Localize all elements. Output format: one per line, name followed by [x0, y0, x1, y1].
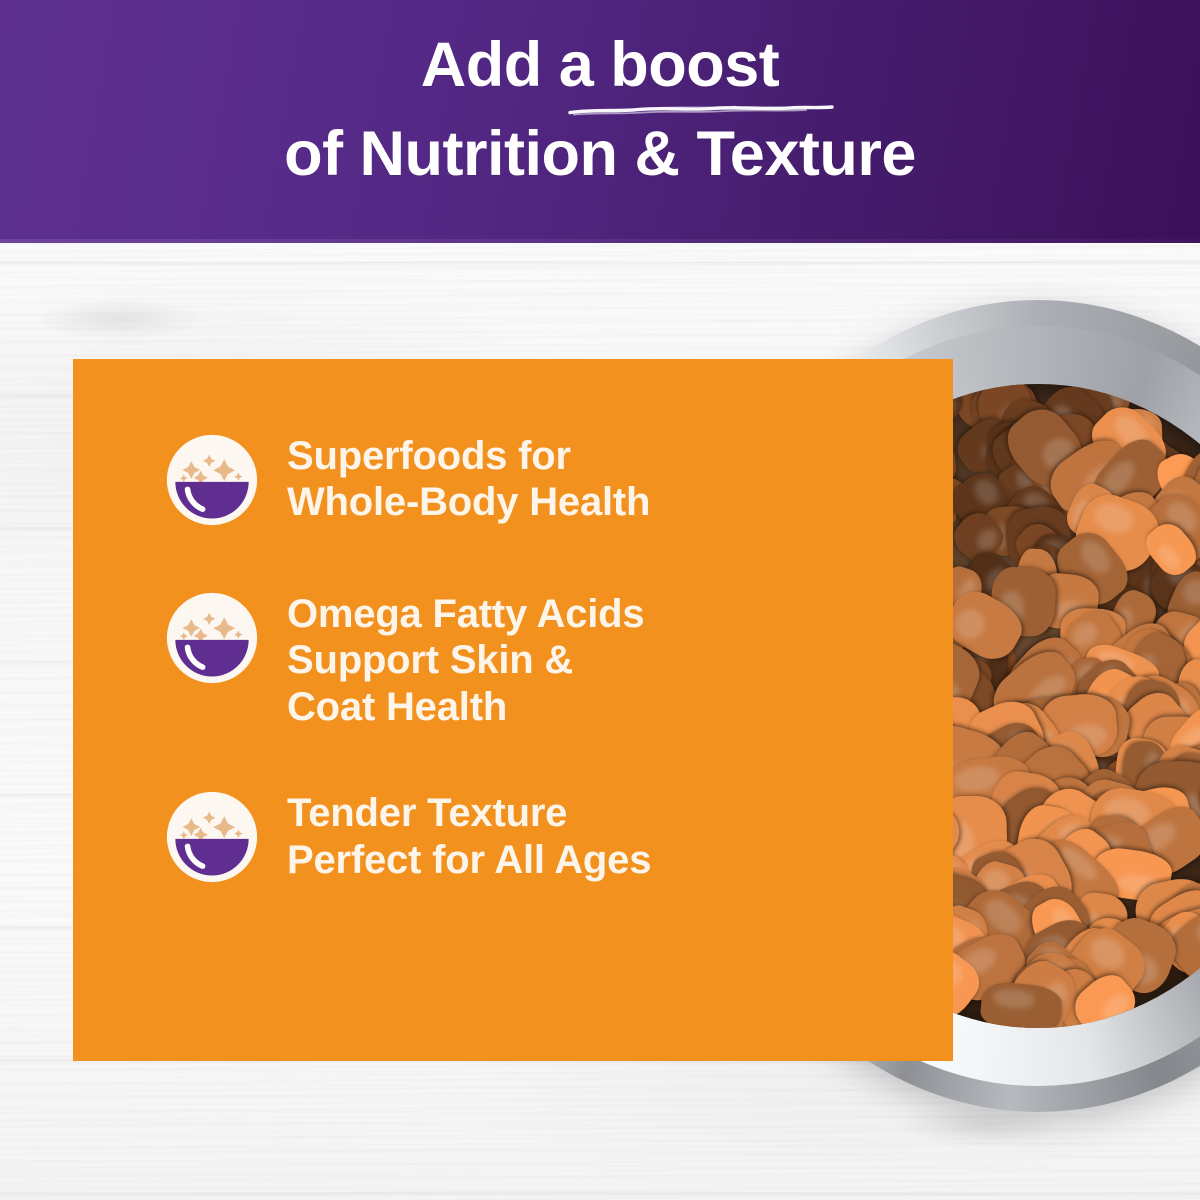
benefit-label: Superfoods forWhole-Body Health: [287, 429, 650, 526]
benefit-label-line: Perfect for All Ages: [287, 837, 651, 883]
header-text-block: Add a boost of Nutrition & Texture: [0, 34, 1200, 186]
benefit-label-line: Support Skin &: [287, 637, 644, 683]
benefit-label-line: Superfoods for: [287, 433, 650, 479]
benefit-label-line: Tender Texture: [287, 790, 651, 836]
page-title-line-1: Add a boost: [0, 34, 1200, 97]
benefit-label: Omega Fatty AcidsSupport Skin &Coat Heal…: [287, 587, 644, 730]
benefit-item: Tender TexturePerfect for All Ages: [165, 786, 725, 884]
superfood-bowl-icon: [165, 433, 259, 527]
superfood-bowl-icon: [165, 591, 259, 685]
benefit-label-line: Omega Fatty Acids: [287, 591, 644, 637]
product-feature-graphic: Add a boost of Nutrition & Texture: [0, 0, 1200, 1200]
benefit-list: Superfoods forWhole-Body Health Omega Fa…: [165, 429, 725, 884]
benefit-label-line: Coat Health: [287, 684, 644, 730]
benefit-label: Tender TexturePerfect for All Ages: [287, 786, 651, 883]
wood-knot: [40, 300, 200, 338]
benefit-label-line: Whole-Body Health: [287, 479, 650, 525]
feature-panel: Superfoods forWhole-Body Health Omega Fa…: [73, 359, 953, 1061]
superfood-bowl-icon: [165, 790, 259, 884]
page-title-line-2: of Nutrition & Texture: [0, 123, 1200, 186]
benefit-item: Omega Fatty AcidsSupport Skin &Coat Heal…: [165, 587, 725, 730]
header-banner: Add a boost of Nutrition & Texture: [0, 0, 1200, 243]
benefit-item: Superfoods forWhole-Body Health: [165, 429, 725, 527]
